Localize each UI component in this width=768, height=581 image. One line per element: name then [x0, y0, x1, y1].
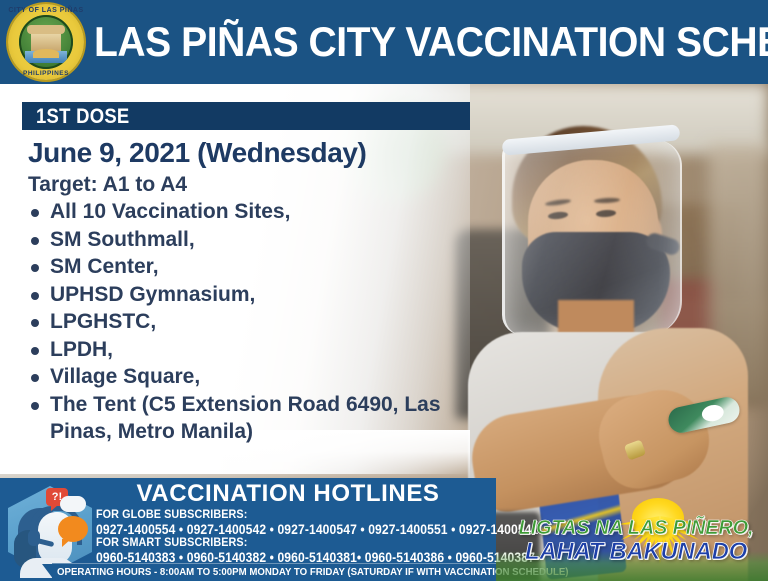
operating-hours-text: OPERATING HOURS - 8:00AM TO 5:00PM MONDA…: [57, 565, 569, 579]
globe-subscribers-label: FOR GLOBE SUBSCRIBERS:: [96, 508, 247, 521]
page-title: LAS PIÑAS CITY VACCINATION SCHEDULE: [94, 14, 713, 70]
vaccination-site-item: LPDH,: [28, 336, 448, 364]
operating-hours-strip: OPERATING HOURS - 8:00AM TO 5:00PM MONDA…: [52, 563, 496, 581]
vaccination-site-item: All 10 Vaccination Sites,: [28, 198, 448, 226]
vaccination-schedule-poster: CITY OF LAS PIÑAS PHILIPPINES LAS PIÑAS …: [0, 0, 768, 581]
vaccination-site-item: SM Southmall,: [28, 226, 448, 254]
vaccination-site-list: All 10 Vaccination Sites,SM Southmall,SM…: [28, 198, 448, 446]
hotlines-title: VACCINATION HOTLINES: [88, 480, 488, 508]
vaccination-site-item: The Tent (C5 Extension Road 6490, Las Pi…: [28, 391, 448, 446]
schedule-date: June 9, 2021 (Wednesday): [28, 136, 366, 170]
vaccination-site-item: LPGHSTC,: [28, 308, 448, 336]
vaccination-site-item: SM Center,: [28, 253, 448, 281]
speech-bubble-white-icon: [60, 496, 86, 512]
seal-text-top: CITY OF LAS PIÑAS: [8, 7, 84, 14]
vaccination-site-item: UPHSD Gymnasium,: [28, 281, 448, 309]
seal-text-bottom: PHILIPPINES: [8, 70, 84, 77]
schedule-target: Target: A1 to A4: [28, 172, 187, 198]
seal-shore: [33, 49, 59, 58]
seal-bamboo-organ: [31, 31, 61, 51]
dose-label: 1ST DOSE: [36, 104, 130, 129]
city-seal-icon: CITY OF LAS PIÑAS PHILIPPINES: [8, 4, 84, 80]
slogan-line-2: LAHAT BAKUNADO: [510, 538, 762, 566]
slogan-line-1: LIGTAS NA LAS PIÑERO,: [510, 516, 762, 540]
speech-bubble-orange-icon: [58, 516, 88, 542]
seal-inner-emblem: [19, 15, 73, 69]
slogan-area: LIGTAS NA LAS PIÑERO, LAHAT BAKUNADO: [496, 478, 768, 581]
dose-band: 1ST DOSE: [22, 102, 470, 130]
smart-subscribers-label: FOR SMART SUBSCRIBERS:: [96, 536, 247, 549]
vaccination-site-item: Village Square,: [28, 363, 448, 391]
poster-header: CITY OF LAS PIÑAS PHILIPPINES LAS PIÑAS …: [0, 0, 768, 84]
